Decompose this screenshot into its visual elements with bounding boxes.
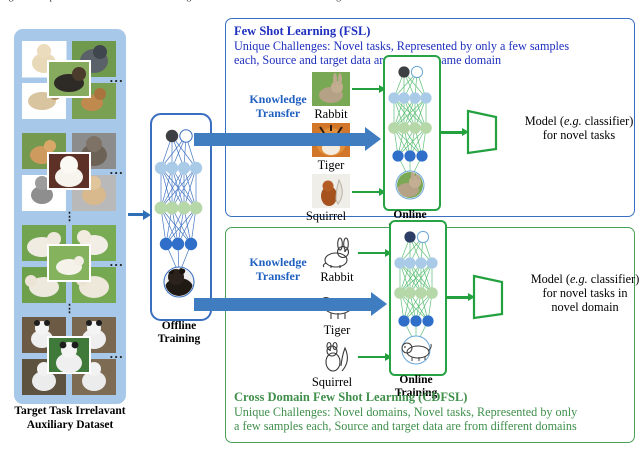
- cluster-ellipsis: ...: [110, 351, 124, 357]
- fsl-model-label-line2: for novel tasks: [504, 129, 640, 143]
- fsl-model-label: Model (e.g. classifier) for novel tasks: [504, 115, 640, 143]
- fsl-arrow-squirrel: [352, 191, 380, 193]
- cluster-vertical-ellipsis-top: ⋮: [64, 215, 68, 220]
- cluster-vertical-ellipsis-bottom: ⋮: [64, 307, 68, 312]
- cdfsl-model-label-line3: novel domain: [510, 301, 640, 315]
- auxiliary-dataset-label-line2: Auxiliary Dataset: [0, 419, 140, 433]
- fsl-knowledge-transfer-arrow: [194, 133, 366, 146]
- fsl-title: Few Shot Learning (FSL): [234, 24, 370, 39]
- squirrel-sketch-icon: [318, 340, 356, 374]
- cdfsl-sample-rabbit-image: [318, 236, 356, 270]
- few-shot-learning-box: Few Shot Learning (FSL) Unique Challenge…: [225, 18, 635, 217]
- offline-training-label: Offline Training: [146, 320, 212, 346]
- cdfsl-sample-squirrel-image: [318, 340, 356, 374]
- cdfsl-model-label-line2: for novel tasks in: [510, 287, 640, 301]
- figure-caption-cutoff: Fig. 1. Comparison between few shot lear…: [0, 0, 640, 5]
- cdfsl-arrow-to-model: [445, 296, 469, 299]
- fsl-model-italic: e.g.: [564, 114, 582, 128]
- cluster-ellipsis: ...: [110, 167, 124, 173]
- cdfsl-sample-label-rabbit: Rabbit: [303, 270, 371, 285]
- dogs-thumbnail-group: [22, 41, 118, 119]
- cluster-ellipsis: ...: [110, 75, 124, 81]
- fsl-kt-line1: Knowledge: [232, 93, 324, 107]
- image-cluster-cats: ...: [22, 133, 118, 211]
- rabbit-photo-icon: [312, 72, 350, 106]
- cross-domain-few-shot-learning-box: Knowledge Transfer Rabbit: [225, 227, 635, 443]
- image-cluster-dogs: ...: [22, 41, 118, 119]
- cdfsl-model-pre: Model (: [531, 272, 570, 286]
- cdfsl-online-network-diagram: [392, 223, 442, 371]
- fsl-model-shape: [466, 109, 500, 155]
- cdfsl-model-shape: [472, 274, 506, 320]
- cdfsl-title: Cross Domain Few Shot Learning (CDFSL): [234, 390, 467, 405]
- cdfsl-model-label-line1: Model (e.g. classifier): [510, 273, 640, 287]
- cdfsl-arrow-rabbit: [358, 252, 386, 254]
- fsl-online-network-diagram: [386, 58, 436, 206]
- cdfsl-arrow-squirrel: [358, 356, 386, 358]
- cdfsl-model-post: classifier): [588, 272, 640, 286]
- rabbit-sketch-icon: [318, 236, 356, 270]
- pandas-thumbnail-group: [22, 317, 118, 395]
- image-cluster-sheep: ...: [22, 225, 118, 303]
- fsl-arrow-rabbit: [352, 88, 380, 90]
- offline-training-label-line1: Offline: [146, 320, 212, 333]
- rabbit-photo-icon: [396, 170, 424, 200]
- fsl-online-training-box: [383, 55, 441, 211]
- cdfsl-model-label: Model (e.g. classifier) for novel tasks …: [510, 273, 640, 314]
- cdfsl-knowledge-transfer-arrow: [194, 298, 372, 311]
- auxiliary-dataset-label: Target Task Irrelavant Auxiliary Dataset: [0, 405, 140, 432]
- fsl-model-post: classifier): [582, 114, 634, 128]
- bear-photo-icon: [164, 267, 194, 298]
- fsl-description-line1: Unique Challenges: Novel tasks, Represen…: [234, 40, 628, 54]
- fsl-sample-label-rabbit: Rabbit: [297, 107, 365, 122]
- cdfsl-online-training-box: [389, 220, 447, 376]
- sheep-thumbnail-group: [22, 225, 118, 303]
- cdfsl-sample-label-tiger: Tiger: [303, 323, 371, 338]
- auxiliary-dataset-panel: ... ... ⋮: [14, 29, 126, 404]
- cdfsl-model-italic: e.g.: [570, 272, 588, 286]
- cdfsl-description: Unique Challenges: Novel domains, Novel …: [234, 406, 632, 433]
- cdfsl-description-line1: Unique Challenges: Novel domains, Novel …: [234, 406, 632, 420]
- auxiliary-dataset-label-line1: Target Task Irrelavant: [0, 405, 140, 419]
- offline-network-diagram: [152, 116, 206, 316]
- tiger-sketch-icon: [402, 336, 431, 364]
- squirrel-photo-icon: [312, 174, 350, 208]
- fsl-sample-label-tiger: Tiger: [297, 158, 365, 173]
- cdfsl-sample-label-squirrel: Squirrel: [298, 375, 366, 390]
- cats-thumbnail-group: [22, 133, 118, 211]
- image-cluster-pandas: ...: [22, 317, 118, 395]
- cdfsl-description-line2: a few samples each, Source and target da…: [234, 420, 632, 434]
- fsl-arrow-to-model: [439, 131, 463, 134]
- fsl-model-label-line1: Model (e.g. classifier): [504, 115, 640, 129]
- offline-training-label-line2: Training: [146, 333, 212, 346]
- fsl-sample-rabbit-image: [312, 72, 350, 106]
- fsl-sample-label-squirrel: Squirrel: [292, 209, 360, 224]
- arrow-dataset-to-offline: [128, 213, 144, 216]
- cdfsl-kt-line1: Knowledge: [232, 256, 324, 270]
- cluster-ellipsis: ...: [110, 259, 124, 265]
- fsl-model-pre: Model (: [525, 114, 564, 128]
- cdfsl-online-label-line1: Online: [380, 374, 452, 387]
- fsl-sample-squirrel-image: [312, 174, 350, 208]
